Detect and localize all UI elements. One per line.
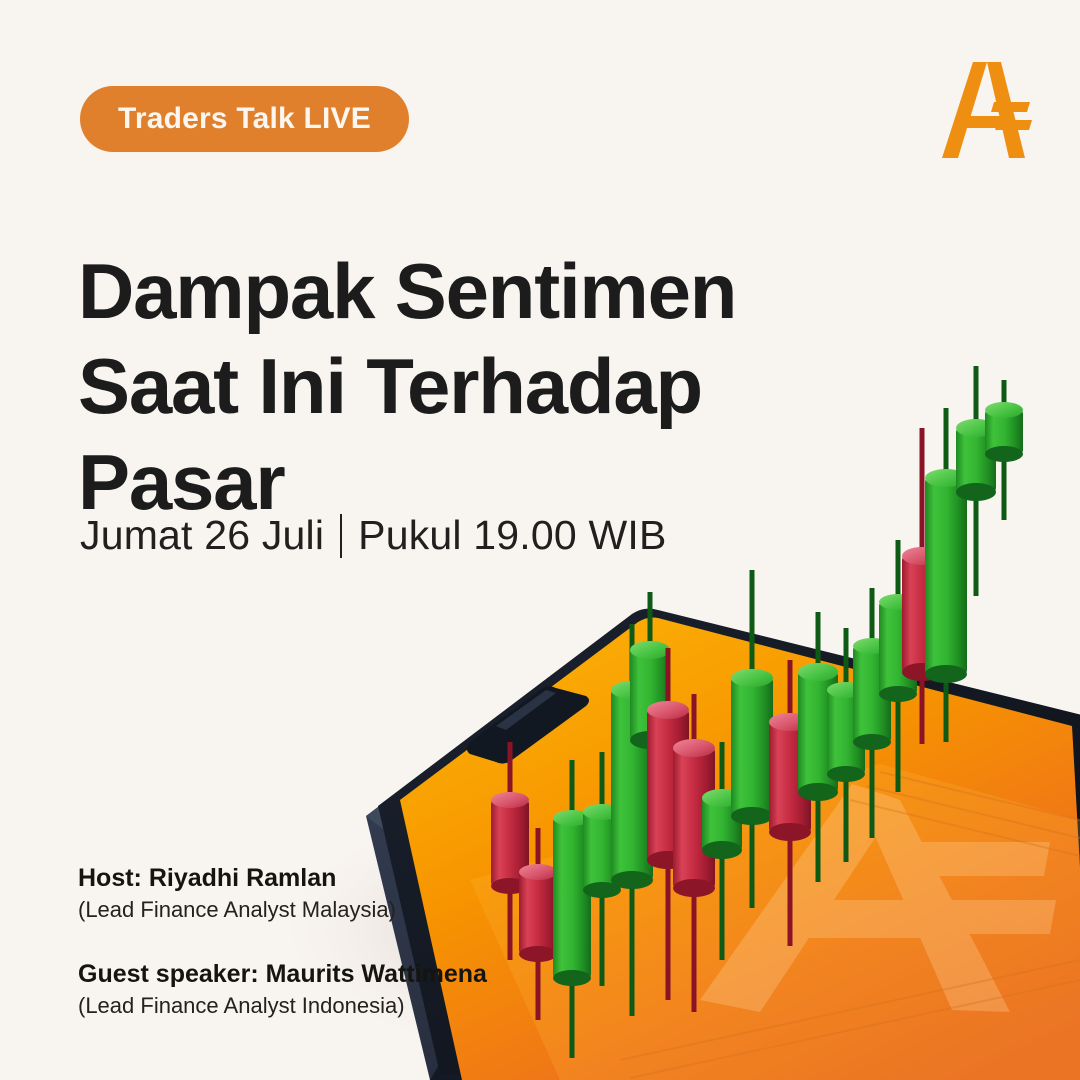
event-date: Jumat 26 Juli	[80, 512, 324, 559]
ascendex-a-logo-icon	[932, 58, 1032, 162]
guest-credit: Guest speaker: Maurits Wattimena (Lead F…	[78, 958, 487, 1020]
speaker-credits: Host: Riyadhi Ramlan (Lead Finance Analy…	[78, 862, 487, 1020]
traders-talk-live-badge[interactable]: Traders Talk LIVE	[80, 86, 409, 152]
host-credit: Host: Riyadhi Ramlan (Lead Finance Analy…	[78, 862, 487, 924]
guest-name: Guest speaker: Maurits Wattimena	[78, 958, 487, 991]
event-schedule: Jumat 26 Juli Pukul 19.00 WIB	[80, 512, 667, 559]
event-time: Pukul 19.00 WIB	[358, 512, 666, 559]
promo-poster: Traders Talk LIVE Dampak Sentimen Saat I…	[0, 0, 1080, 1080]
headline-line-1: Dampak Sentimen	[78, 244, 838, 339]
host-role: (Lead Finance Analyst Malaysia)	[78, 895, 487, 924]
host-name: Host: Riyadhi Ramlan	[78, 862, 487, 895]
schedule-separator	[340, 514, 342, 558]
badge-label: Traders Talk LIVE	[118, 104, 371, 134]
page-title: Dampak Sentimen Saat Ini Terhadap Pasar	[78, 244, 838, 529]
guest-role: (Lead Finance Analyst Indonesia)	[78, 991, 487, 1020]
headline-line-2: Saat Ini Terhadap	[78, 339, 838, 434]
